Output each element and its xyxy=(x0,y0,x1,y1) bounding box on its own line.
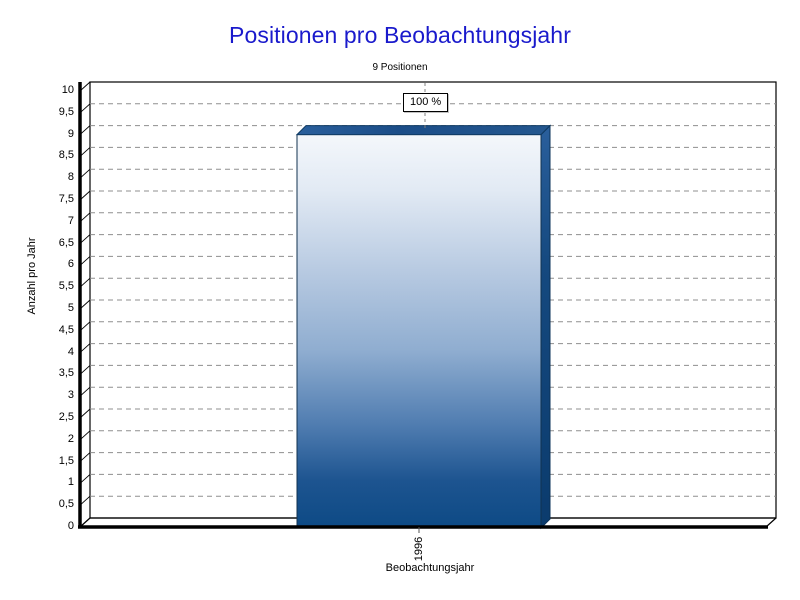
plot-area xyxy=(0,0,800,600)
chart-canvas: Positionen pro Beobachtungsjahr 9 Positi… xyxy=(0,0,800,600)
bar-side-face[interactable] xyxy=(541,126,550,528)
bar-top-face[interactable] xyxy=(297,126,550,135)
data-label: 100 % xyxy=(403,93,448,112)
x-tick-label: 1996 xyxy=(413,509,425,589)
bar-front-face[interactable] xyxy=(297,135,541,528)
bar-series xyxy=(297,126,550,528)
